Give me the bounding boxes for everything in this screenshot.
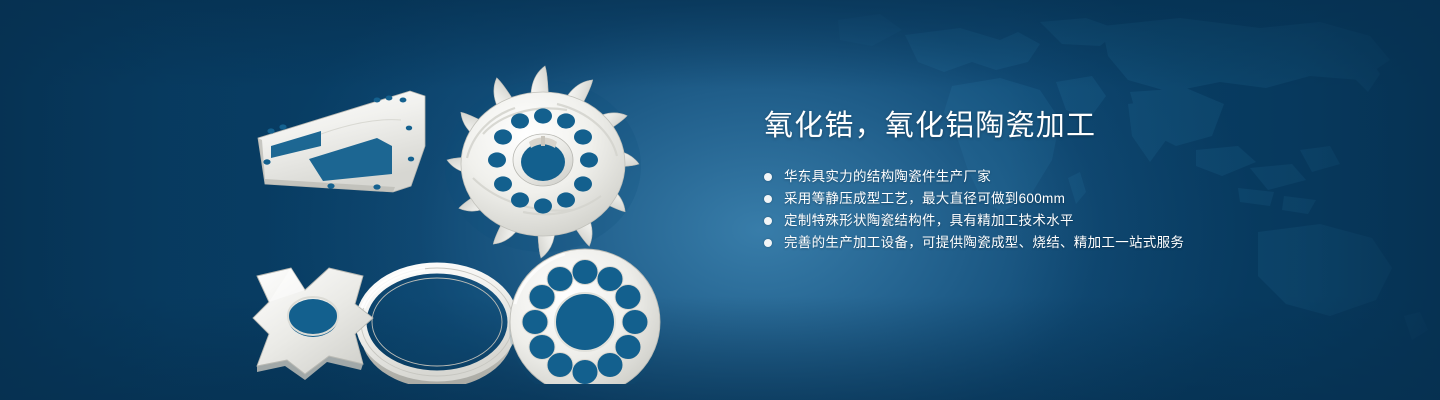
feature-list: 华东具实力的结构陶瓷件生产厂家 采用等静压成型工艺，最大直径可做到600mm 定… — [764, 166, 1384, 254]
bullet-dot-icon — [764, 173, 772, 181]
ceramic-plate-part — [258, 91, 425, 192]
bullet-dot-icon — [764, 239, 772, 247]
list-item: 华东具实力的结构陶瓷件生产厂家 — [764, 166, 1384, 188]
feature-text: 采用等静压成型工艺，最大直径可做到600mm — [784, 188, 1065, 210]
feature-text: 华东具实力的结构陶瓷件生产厂家 — [784, 166, 991, 188]
list-item: 完善的生产加工设备，可提供陶瓷成型、烧结、精加工一站式服务 — [764, 232, 1384, 254]
ceramic-x-plate-part — [253, 268, 373, 380]
bullet-dot-icon — [764, 195, 772, 203]
ceramic-products-image — [225, 34, 695, 384]
ceramic-perforated-disc-part — [509, 249, 661, 384]
feature-text: 完善的生产加工设备，可提供陶瓷成型、烧结、精加工一站式服务 — [784, 232, 1184, 254]
hero-banner: 氧化锆，氧化铝陶瓷加工 华东具实力的结构陶瓷件生产厂家 采用等静压成型工艺，最大… — [0, 0, 1440, 400]
page-title: 氧化锆，氧化铝陶瓷加工 — [764, 108, 1384, 144]
bullet-dot-icon — [764, 217, 772, 225]
banner-copy: 氧化锆，氧化铝陶瓷加工 华东具实力的结构陶瓷件生产厂家 采用等静压成型工艺，最大… — [764, 108, 1384, 254]
list-item: 采用等静压成型工艺，最大直径可做到600mm — [764, 188, 1384, 210]
feature-text: 定制特殊形状陶瓷结构件，具有精加工技术水平 — [784, 210, 1074, 232]
ceramic-ring-part — [361, 268, 513, 384]
ceramic-impeller-part — [445, 66, 641, 258]
list-item: 定制特殊形状陶瓷结构件，具有精加工技术水平 — [764, 210, 1384, 232]
